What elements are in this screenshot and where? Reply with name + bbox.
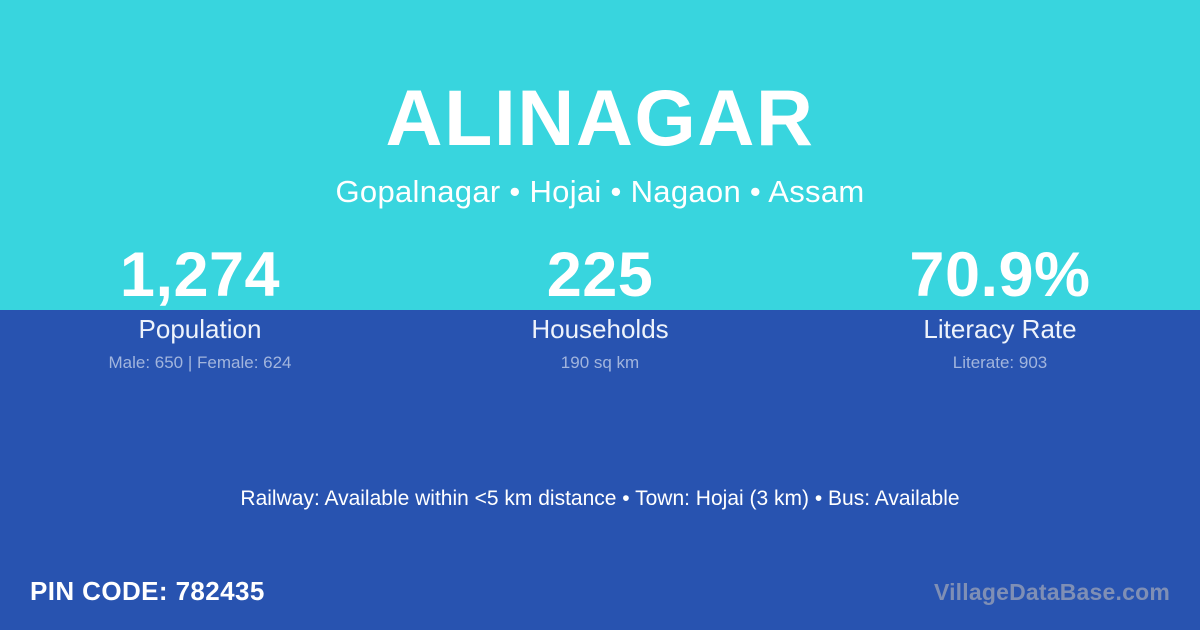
stat-label-population: Population [0, 315, 400, 344]
stat-value-population: 1,274 [0, 244, 400, 310]
stats-row: 1,274 Population Male: 650 | Female: 624… [0, 244, 1200, 372]
pin-code-label: PIN CODE: 782435 [30, 576, 265, 607]
stat-sub-literacy-rate: Literate: 903 [800, 354, 1200, 373]
stat-value-literacy-rate: 70.9% [800, 244, 1200, 310]
stat-sub-population: Male: 650 | Female: 624 [0, 354, 400, 373]
stat-card-households: 225 Households 190 sq km [400, 244, 800, 372]
stat-sub-households: 190 sq km [400, 354, 800, 373]
stat-label-households: Households [400, 315, 800, 344]
page-title: ALINAGAR [0, 78, 1200, 157]
stat-label-literacy-rate: Literacy Rate [800, 315, 1200, 344]
stat-card-literacy-rate: 70.9% Literacy Rate Literate: 903 [800, 244, 1200, 372]
hero-section: ALINAGAR Gopalnagar • Hojai • Nagaon • A… [0, 0, 1200, 207]
stat-value-households: 225 [400, 244, 800, 310]
site-branding: VillageDataBase.com [934, 579, 1170, 607]
breadcrumb: Gopalnagar • Hojai • Nagaon • Assam [0, 176, 1200, 207]
stat-card-population: 1,274 Population Male: 650 | Female: 624 [0, 244, 400, 372]
facilities-summary: Railway: Available within <5 km distance… [0, 486, 1200, 511]
